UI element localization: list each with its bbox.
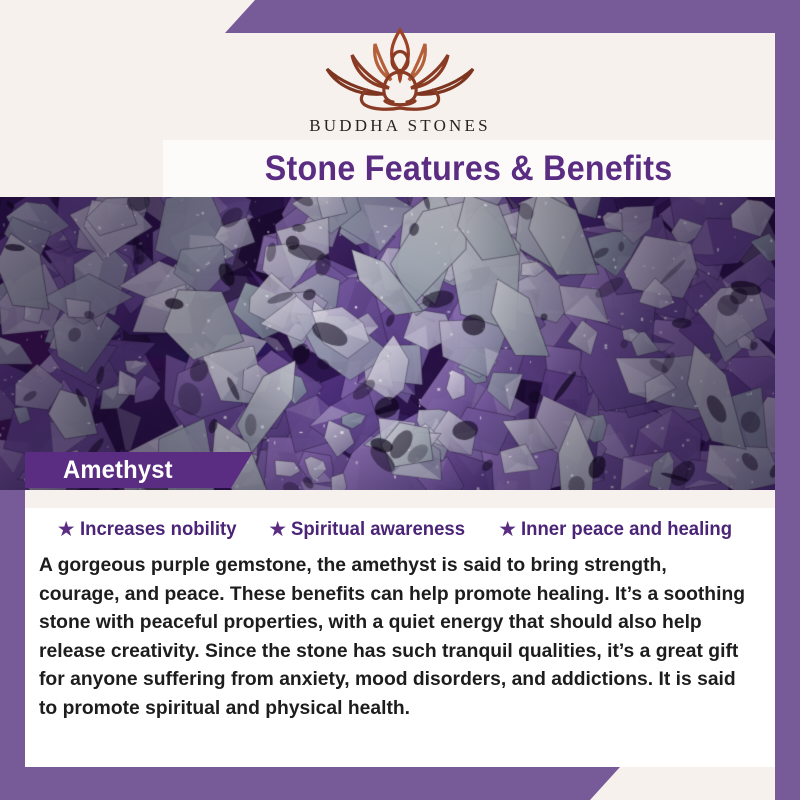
stone-name-label: Amethyst: [25, 456, 173, 485]
stone-name-ribbon: Amethyst: [25, 452, 253, 488]
star-icon: ★: [57, 519, 76, 540]
star-icon: ★: [268, 519, 287, 540]
content-panel: ★ Increases nobility ★ Spiritual awarene…: [25, 508, 775, 767]
lotus-meditation-figure-icon: [305, 22, 495, 114]
star-icon: ★: [498, 519, 517, 540]
amethyst-hero-image: [0, 197, 775, 490]
benefits-row: ★ Increases nobility ★ Spiritual awarene…: [25, 508, 775, 541]
benefit-label: Inner peace and healing: [521, 518, 732, 541]
product-infographic: BUDDHA STONES Stone Features & Benefits …: [0, 0, 800, 800]
title-band: Stone Features & Benefits: [163, 140, 775, 198]
brand-logo: BUDDHA STONES: [0, 22, 800, 136]
benefit-item: ★ Inner peace and healing: [498, 518, 743, 541]
benefit-label: Spiritual awareness: [291, 518, 465, 541]
frame-left-bar: [0, 470, 25, 800]
brand-name: BUDDHA STONES: [0, 116, 800, 136]
amethyst-crystal-cluster-photo: [0, 197, 775, 490]
stone-description: A gorgeous purple gemstone, the amethyst…: [39, 551, 750, 722]
benefit-item: ★ Spiritual awareness: [268, 518, 474, 541]
benefit-label: Increases nobility: [80, 518, 236, 541]
benefit-item: ★ Increases nobility: [57, 518, 245, 541]
frame-bottom-bar: [0, 767, 620, 800]
page-title: Stone Features & Benefits: [265, 149, 673, 189]
cream-divider-strip: [25, 490, 775, 508]
